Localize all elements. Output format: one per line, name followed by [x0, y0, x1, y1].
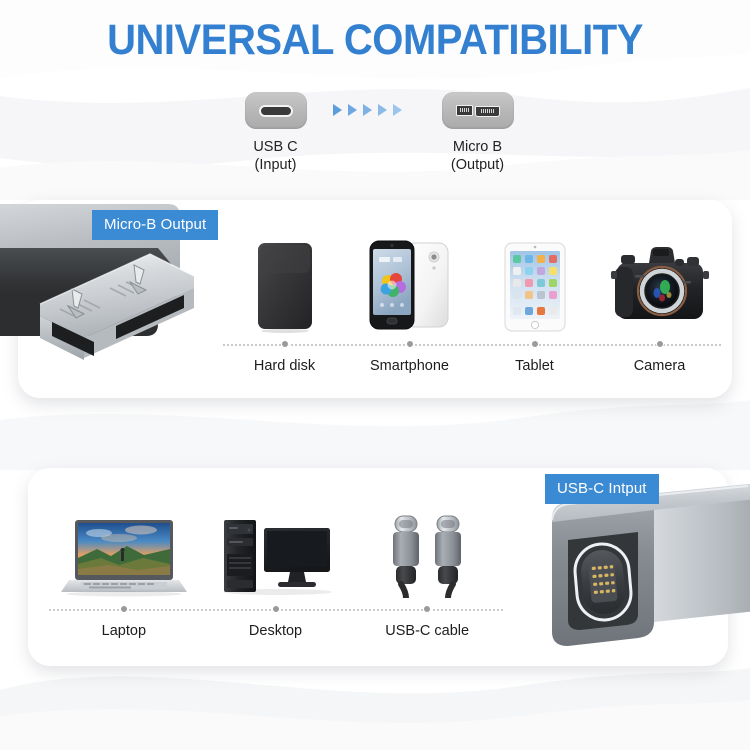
arrow-right-icon — [363, 104, 372, 116]
arrow-right-icon — [378, 104, 387, 116]
micro-b-port-icon — [442, 92, 514, 129]
timeline-dot — [656, 340, 664, 348]
legend-micro-b-label: Micro B (Output) — [425, 138, 530, 174]
micro-b-device-labels: Hard disk Smartphone Tablet Camera — [222, 358, 722, 374]
legend-micro-b-qualifier: (Output) — [425, 156, 530, 174]
tablet-cell — [472, 241, 597, 333]
arrow-right-icon — [348, 104, 357, 116]
camera-icon — [605, 241, 715, 333]
laptop-cell — [48, 516, 200, 598]
legend-usb-c-qualifier: (Input) — [228, 156, 323, 174]
usb-c-device-labels: Laptop Desktop USB-C cable — [48, 623, 503, 639]
usb-c-port-icon — [245, 92, 307, 129]
device-label-laptop: Laptop — [48, 623, 200, 639]
connector-legend: USB C (Input) Micro B (Output) — [0, 92, 750, 187]
tablet-icon — [502, 241, 568, 333]
usb-c-slot-shape — [259, 105, 293, 117]
page-title: UNIVERSAL COMPATIBILITY — [26, 16, 724, 65]
usb-c-timeline — [48, 604, 503, 616]
legend-usb-c-name: USB C — [228, 138, 323, 156]
device-label-smartphone: Smartphone — [347, 358, 472, 374]
badge-micro-b-output: Micro-B Output — [92, 210, 218, 240]
timeline-dot — [531, 340, 539, 348]
legend-usb-c-label: USB C (Input) — [228, 138, 323, 174]
micro-b-slot-shape — [456, 105, 500, 117]
arrow-right-icon — [333, 104, 342, 116]
desktop-pc-icon — [216, 510, 336, 598]
usb-c-cable-cell — [351, 510, 503, 598]
laptop-icon — [59, 516, 189, 598]
device-label-usb-c-cable: USB-C cable — [351, 623, 503, 639]
usb-c-cable-icon — [384, 510, 470, 598]
legend-micro-b-name: Micro B — [425, 138, 530, 156]
device-label-tablet: Tablet — [472, 358, 597, 374]
device-label-camera: Camera — [597, 358, 722, 374]
device-label-desktop: Desktop — [200, 623, 352, 639]
timeline-dot — [423, 605, 431, 613]
camera-cell — [597, 241, 722, 333]
micro-b-slot-right — [475, 106, 500, 117]
timeline-dot — [272, 605, 280, 613]
micro-b-slot-left — [456, 105, 473, 116]
hard-disk-icon — [254, 241, 316, 333]
page-title-wrapper: UNIVERSAL COMPATIBILITY — [0, 16, 750, 65]
micro-b-timeline — [222, 339, 722, 351]
usb-c-adapter-render — [534, 482, 750, 652]
smartphone-icon — [362, 237, 458, 333]
legend-item-micro-b: Micro B (Output) — [425, 92, 530, 174]
arrow-right-icon — [393, 104, 402, 116]
hard-disk-cell — [222, 241, 347, 333]
usb-c-device-row: Laptop Desktop USB-C cable — [48, 493, 503, 639]
desktop-pc-cell — [200, 510, 352, 598]
usb-c-device-images — [48, 493, 503, 598]
timeline-dots — [222, 339, 722, 347]
timeline-dot — [406, 340, 414, 348]
legend-item-usb-c: USB C (Input) — [228, 92, 323, 174]
device-label-hard-disk: Hard disk — [222, 358, 347, 374]
smartphone-cell — [347, 237, 472, 333]
timeline-dot — [120, 605, 128, 613]
micro-b-device-row: Hard disk Smartphone Tablet Camera — [222, 228, 722, 374]
micro-b-device-images — [222, 228, 722, 333]
timeline-dots — [48, 604, 503, 612]
badge-usb-c-input: USB-C Intput — [545, 474, 659, 504]
timeline-dot — [281, 340, 289, 348]
arrow-right-icon-group — [333, 104, 402, 116]
